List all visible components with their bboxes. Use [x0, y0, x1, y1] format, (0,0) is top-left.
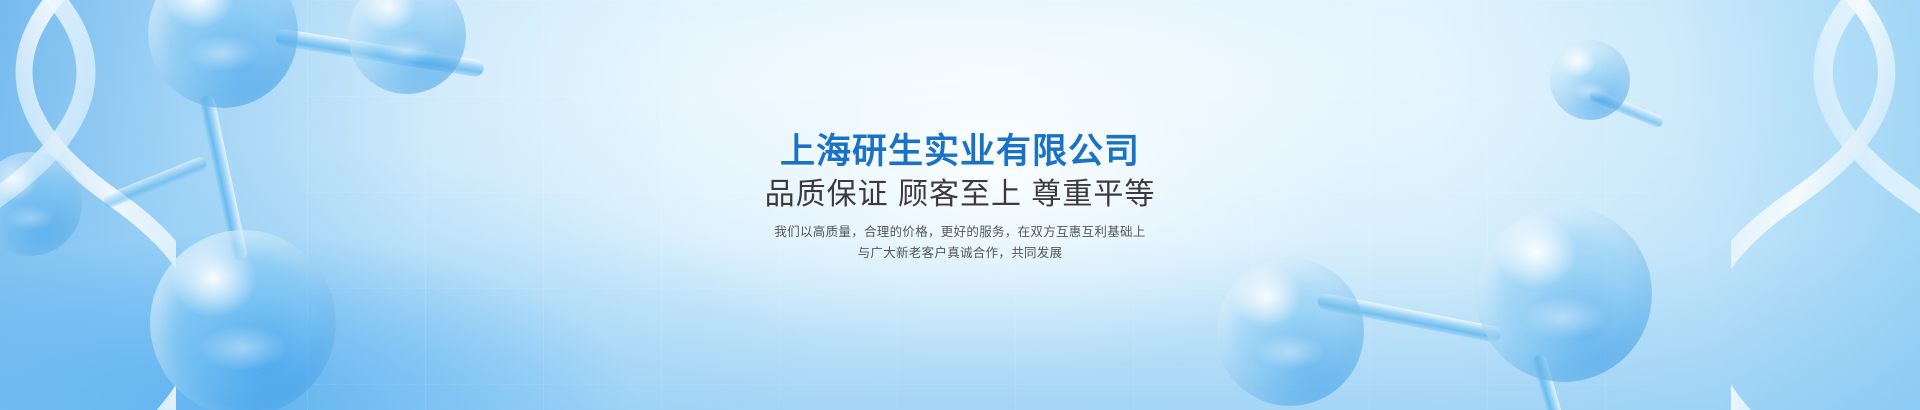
company-hero-banner: 上海研生实业有限公司 品质保证 顾客至上 尊重平等 我们以高质量，合理的价格，更…: [0, 0, 1920, 410]
company-description-line: 我们以高质量，合理的价格，更好的服务，在双方互惠互利基础上: [0, 222, 1920, 243]
company-name-heading: 上海研生实业有限公司: [0, 132, 1920, 172]
company-slogan: 品质保证 顾客至上 尊重平等: [0, 177, 1920, 213]
banner-text-block: 上海研生实业有限公司 品质保证 顾客至上 尊重平等 我们以高质量，合理的价格，更…: [0, 132, 1920, 264]
molecule-sphere-icon: [1216, 258, 1364, 406]
company-description: 我们以高质量，合理的价格，更好的服务，在双方互惠互利基础上 与广大新老客户真诚合…: [0, 222, 1920, 264]
company-description-line: 与广大新老客户真诚合作，共同发展: [0, 243, 1920, 264]
molecule-sphere-icon: [1550, 40, 1630, 120]
